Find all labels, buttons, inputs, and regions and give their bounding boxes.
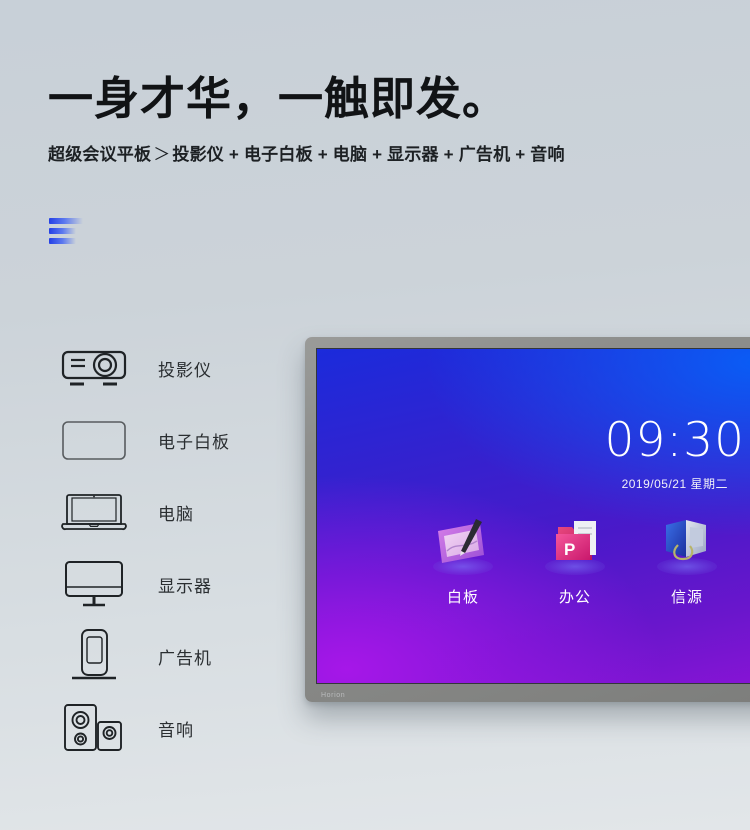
logo-bar-bottom xyxy=(49,238,76,244)
clock-time: 09:30 xyxy=(605,417,745,464)
app-item-source[interactable]: 信源 xyxy=(653,515,721,607)
app-whiteboard-icon xyxy=(429,515,497,577)
subtitle-product: 超级会议平板 xyxy=(48,145,151,164)
laptop-icon xyxy=(58,483,130,541)
subtitle-rest: 投影仪 + 电子白板 + 电脑 + 显示器 + 广告机 + 音响 xyxy=(172,145,564,164)
feature-label: 显示器 xyxy=(158,572,212,597)
feature-label: 电脑 xyxy=(158,500,194,525)
device-brand-label: Horion xyxy=(321,692,345,699)
feature-row-whiteboard: 电子白板 xyxy=(58,404,288,476)
monitor-icon xyxy=(58,555,130,613)
app-office-icon: P xyxy=(541,515,609,577)
feature-label: 音响 xyxy=(158,716,194,741)
signage-kiosk-icon xyxy=(58,627,130,685)
feature-label: 电子白板 xyxy=(158,428,230,453)
app-item-whiteboard[interactable]: 白板 xyxy=(429,515,497,607)
app-source-icon xyxy=(653,515,721,577)
subtitle-separator: ＞ xyxy=(151,145,172,164)
whiteboard-icon xyxy=(58,411,130,469)
feature-label: 广告机 xyxy=(158,644,212,669)
feature-row-projector: 投影仪 xyxy=(58,332,288,404)
clock-date: 2019/05/21 星期二 xyxy=(605,475,745,492)
projector-icon xyxy=(58,339,130,397)
feature-row-signage: 广告机 xyxy=(58,620,288,692)
brand-logo-mark xyxy=(49,218,89,248)
feature-list: 投影仪 电子白板 电脑 xyxy=(58,332,288,764)
feature-row-monitor: 显示器 xyxy=(58,548,288,620)
header: 一身才华，一触即发。 超级会议平板＞投影仪 + 电子白板 + 电脑 + 显示器 … xyxy=(48,74,708,165)
app-label: 信源 xyxy=(653,586,721,607)
app-item-office[interactable]: P 办公 xyxy=(541,515,609,607)
feature-row-laptop: 电脑 xyxy=(58,476,288,548)
conference-panel-device: 09:30 2019/05/21 星期二 xyxy=(305,337,750,702)
logo-bar-top xyxy=(49,218,83,224)
feature-row-speakers: 音响 xyxy=(58,692,288,764)
app-label: 白板 xyxy=(429,586,497,607)
logo-bar-middle xyxy=(49,228,76,234)
feature-label: 投影仪 xyxy=(158,356,212,381)
page-title: 一身才华，一触即发。 xyxy=(48,74,708,124)
app-label: 办公 xyxy=(541,586,609,607)
speakers-icon xyxy=(58,699,130,757)
app-dock: 白板 xyxy=(429,515,750,607)
page-subtitle: 超级会议平板＞投影仪 + 电子白板 + 电脑 + 显示器 + 广告机 + 音响 xyxy=(48,140,708,165)
panel-screen[interactable]: 09:30 2019/05/21 星期二 xyxy=(316,348,750,684)
clock-widget: 09:30 2019/05/21 星期二 xyxy=(605,417,745,492)
svg-text:P: P xyxy=(564,540,575,559)
